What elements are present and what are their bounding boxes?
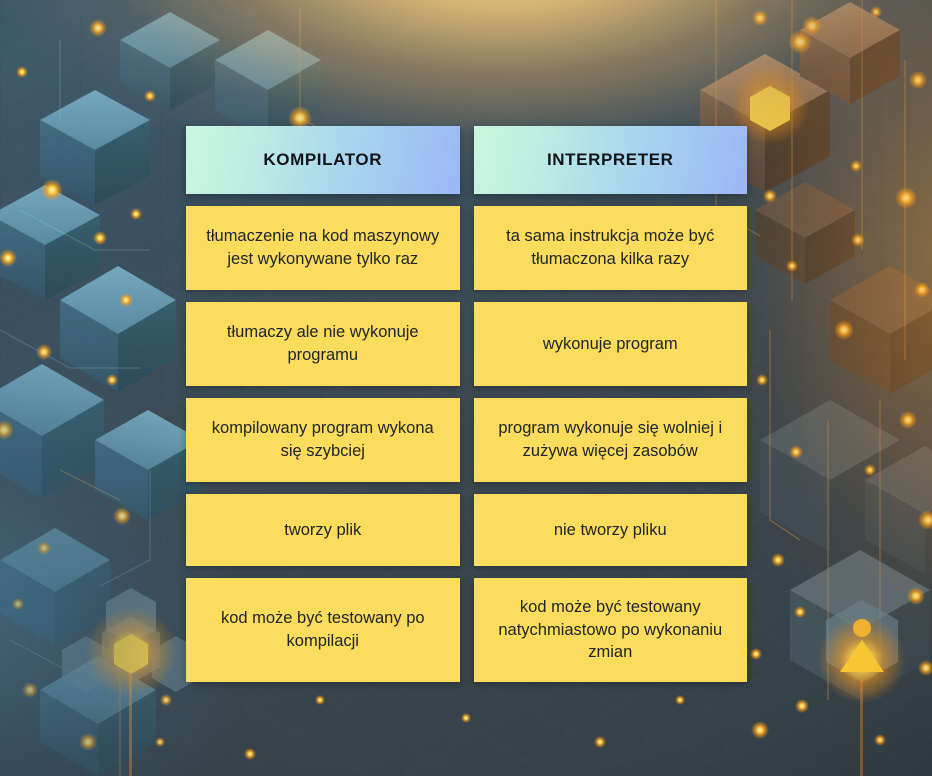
cell-interpreter-2: wykonuje program <box>474 302 748 386</box>
cell-text: ta sama instrukcja może być tłumaczona k… <box>490 225 732 271</box>
column-header-kompilator-label: KOMPILATOR <box>263 148 382 171</box>
hex-flower-node-right <box>818 600 906 776</box>
slide-canvas: KOMPILATOR INTERPRETER tłumaczenie na ko… <box>0 0 932 776</box>
cell-kompilator-4: tworzy plik <box>186 494 460 566</box>
table-header-row: KOMPILATOR INTERPRETER <box>186 126 747 194</box>
table-row: tworzy plik nie tworzy pliku <box>186 494 747 566</box>
cell-text: nie tworzy pliku <box>554 519 667 542</box>
table-row: tłumaczy ale nie wykonuje programu wykon… <box>186 302 747 386</box>
cell-kompilator-3: kompilowany program wykona się szybciej <box>186 398 460 482</box>
cell-kompilator-2: tłumaczy ale nie wykonuje programu <box>186 302 460 386</box>
cell-text: tłumaczenie na kod maszynowy jest wykony… <box>202 225 444 271</box>
table-row: kompilowany program wykona się szybciej … <box>186 398 747 482</box>
cell-interpreter-4: nie tworzy pliku <box>474 494 748 566</box>
cell-interpreter-1: ta sama instrukcja może być tłumaczona k… <box>474 206 748 290</box>
cell-text: kod może być testowany po kompilacji <box>202 607 444 653</box>
table-row: kod może być testowany po kompilacji kod… <box>186 578 747 682</box>
table-row: tłumaczenie na kod maszynowy jest wykony… <box>186 206 747 290</box>
column-header-kompilator: KOMPILATOR <box>186 126 460 194</box>
column-header-interpreter-label: INTERPRETER <box>547 148 674 171</box>
comparison-table: KOMPILATOR INTERPRETER tłumaczenie na ko… <box>186 126 747 682</box>
cell-text: wykonuje program <box>543 333 678 356</box>
cell-text: tworzy plik <box>284 519 361 542</box>
cell-text: kod może być testowany natychmiastowo po… <box>490 596 732 664</box>
cell-text: tłumaczy ale nie wykonuje programu <box>202 321 444 367</box>
column-header-interpreter: INTERPRETER <box>474 126 748 194</box>
cell-interpreter-5: kod może być testowany natychmiastowo po… <box>474 578 748 682</box>
cell-kompilator-5: kod może być testowany po kompilacji <box>186 578 460 682</box>
cell-interpreter-3: program wykonuje się wolniej i zużywa wi… <box>474 398 748 482</box>
cell-kompilator-1: tłumaczenie na kod maszynowy jest wykony… <box>186 206 460 290</box>
cell-text: program wykonuje się wolniej i zużywa wi… <box>490 417 732 463</box>
cell-text: kompilowany program wykona się szybciej <box>202 417 444 463</box>
